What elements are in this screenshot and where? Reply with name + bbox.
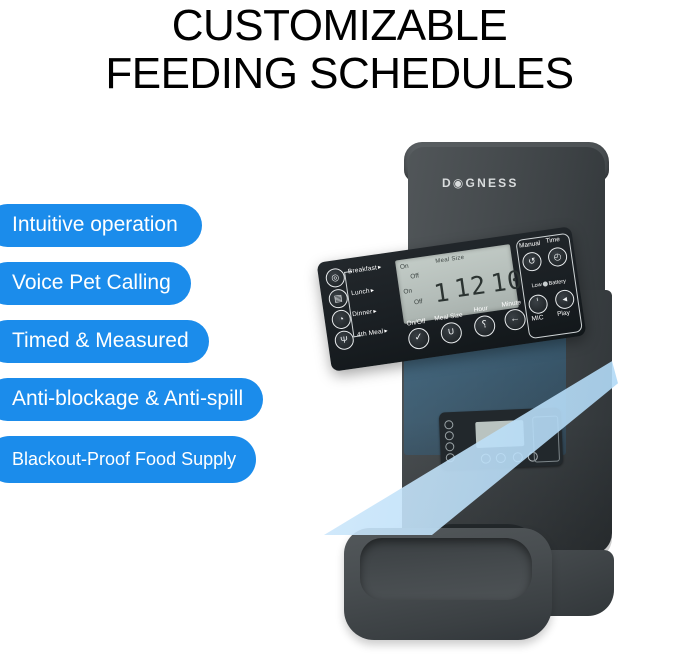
label-low: Low	[531, 282, 542, 289]
label-battery: Battery	[548, 279, 566, 287]
label-play: Play	[557, 309, 571, 318]
lunch-icon[interactable]: ▤	[328, 288, 350, 310]
lcd-off-label-2: Off	[414, 298, 423, 306]
mic-button[interactable]: ⸯ	[527, 293, 549, 315]
meal-label-fourth-meal: 4th Meal	[357, 326, 389, 338]
mini-meal-dot-2	[445, 431, 454, 440]
feature-badge-timed-and-measured: Timed & Measured	[0, 320, 209, 363]
low-battery-indicator: LowBattery	[526, 278, 572, 290]
lcd-meal-size-value: 1	[432, 279, 451, 306]
manual-button[interactable]: ↺	[521, 251, 543, 273]
minute-button[interactable]: ←	[503, 308, 527, 332]
right-button-cluster: Manual ↺ Time ◴ LowBattery ⸯ MIC ◂ Play	[515, 233, 583, 340]
page-title: CUSTOMIZABLE FEEDING SCHEDULES	[0, 2, 679, 98]
lcd-off-label-1: Off	[410, 272, 419, 280]
feature-badge-voice-pet-calling: Voice Pet Calling	[0, 262, 191, 305]
lcd-on-label-1: On	[399, 263, 409, 271]
feature-badge-anti-blockage: Anti-blockage & Anti-spill	[0, 378, 263, 421]
time-button[interactable]: ◴	[547, 246, 569, 268]
onoff-button[interactable]: ✓	[407, 327, 431, 351]
lcd-meal-size-label: Meal Size	[435, 255, 465, 265]
meal-label-lunch: Lunch	[351, 286, 375, 297]
brand-logo: D◉GNESS	[442, 176, 519, 190]
label-mic: MIC	[531, 314, 544, 323]
product-image: D◉GNESS ◎ Breakfast ▤ Lunch	[330, 120, 679, 660]
fourth-meal-icon[interactable]: Ψ	[334, 329, 356, 351]
battery-dot-icon	[542, 281, 548, 287]
label-time: Time	[545, 236, 560, 245]
feature-badge-blackout-proof: Blackout-Proof Food Supply	[0, 436, 256, 483]
brand-logo-o-icon: ◉	[453, 176, 466, 190]
meal-button-column: ◎ Breakfast ▤ Lunch ◔ Dinner Ψ 4th Meal	[324, 259, 405, 364]
meal-size-button[interactable]: ∪	[439, 321, 463, 345]
play-button[interactable]: ◂	[554, 289, 576, 311]
lcd-on-label-2: On	[403, 288, 413, 296]
meal-label-dinner: Dinner	[352, 307, 378, 318]
headline-line-2: FEEDING SCHEDULES	[0, 50, 679, 98]
hour-button[interactable]: ⸮	[473, 314, 497, 338]
label-manual: Manual	[519, 240, 541, 250]
lcd-hour-value: 12	[453, 272, 488, 301]
meal-label-breakfast: Breakfast	[347, 263, 382, 276]
food-bowl-basin	[360, 538, 532, 600]
mini-meal-dot-3	[445, 442, 454, 451]
feature-badge-intuitive-operation: Intuitive operation	[0, 204, 202, 247]
headline-line-1: CUSTOMIZABLE	[0, 2, 679, 50]
feature-badge-list: Intuitive operation Voice Pet Calling Ti…	[0, 204, 316, 498]
mini-meal-dot-1	[444, 420, 453, 429]
breakfast-icon[interactable]: ◎	[325, 267, 347, 289]
dinner-icon[interactable]: ◔	[331, 309, 353, 331]
